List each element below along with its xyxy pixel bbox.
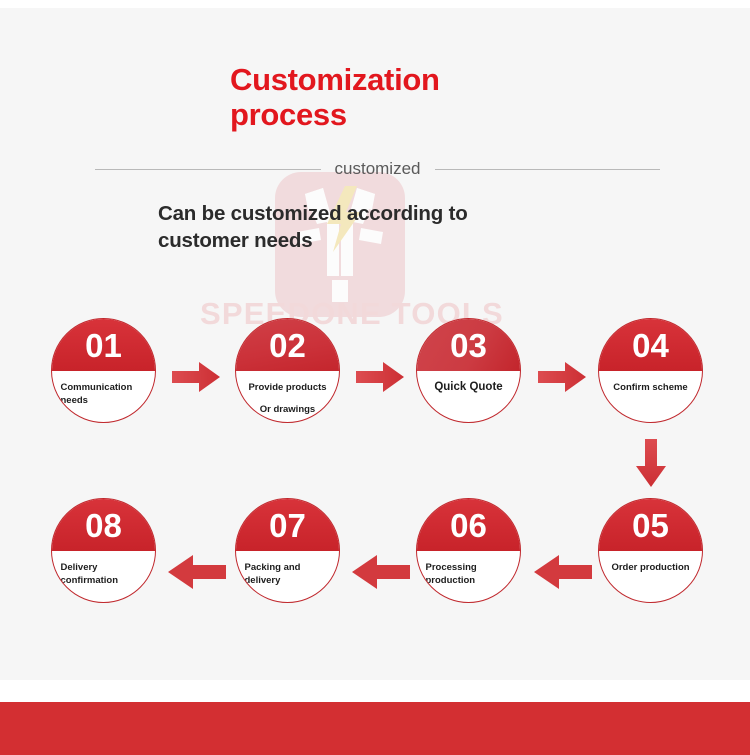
flow-step-02-label-line1: Provide products (242, 381, 334, 394)
flow-step-03-label-area: Quick Quote (417, 371, 520, 423)
flow-step-06-label-area: Processing production (417, 551, 520, 603)
process-flow: 01 Communication needs 02 (0, 0, 750, 755)
arrow-down-icon-1 (636, 439, 666, 487)
flow-step-07-label-area: Packing and delivery (236, 551, 339, 603)
flow-step-06-label-line2: production (420, 574, 518, 587)
flow-step-04-label-line1: Confirm scheme (605, 381, 697, 394)
flow-step-06-label-line1: Processing (420, 561, 518, 574)
flow-step-01-label-line2: needs (55, 394, 153, 407)
bottom-accent-bar (0, 702, 750, 755)
customization-process-infographic: SPEEDONE TOOLS Customization process cus… (0, 0, 750, 755)
flow-step-08-label-line2: confirmation (55, 574, 153, 587)
flow-step-06-number-area: 06 (417, 499, 520, 551)
arrow-left-icon-2 (352, 555, 410, 589)
flow-step-03-number: 03 (450, 329, 487, 362)
flow-step-07[interactable]: 07 Packing and delivery (235, 498, 340, 603)
flow-step-02-label-area: Provide products Or drawings (236, 371, 339, 423)
flow-step-01-number: 01 (85, 329, 122, 362)
flow-step-08-label-line1: Delivery (55, 561, 153, 574)
flow-step-01-label-line1: Communication (55, 381, 153, 394)
arrow-right-icon-2 (356, 362, 404, 392)
flow-step-08-number-area: 08 (52, 499, 155, 551)
flow-step-02-number-area: 02 (236, 319, 339, 371)
arrow-left-icon-3 (534, 555, 592, 589)
flow-step-05-number-area: 05 (599, 499, 702, 551)
flow-step-04[interactable]: 04 Confirm scheme (598, 318, 703, 423)
flow-step-05[interactable]: 05 Order production (598, 498, 703, 603)
flow-step-08-label-area: Delivery confirmation (52, 551, 155, 603)
flow-step-02[interactable]: 02 Provide products Or drawings (235, 318, 340, 423)
flow-step-04-number-area: 04 (599, 319, 702, 371)
arrow-left-icon-1 (168, 555, 226, 589)
flow-step-01-number-area: 01 (52, 319, 155, 371)
flow-step-08[interactable]: 08 Delivery confirmation (51, 498, 156, 603)
arrow-right-icon-1 (172, 362, 220, 392)
flow-step-08-number: 08 (85, 509, 122, 542)
flow-step-01-label-area: Communication needs (52, 371, 155, 423)
flow-step-03[interactable]: 03 Quick Quote (416, 318, 521, 423)
flow-step-05-label-line1: Order production (605, 561, 697, 574)
flow-step-07-number: 07 (269, 509, 306, 542)
flow-step-07-label-line1: Packing and (239, 561, 337, 574)
flow-step-03-label-line1: Quick Quote (423, 381, 515, 394)
flow-step-05-number: 05 (632, 509, 669, 542)
flow-step-07-label-line2: delivery (239, 574, 337, 587)
flow-step-06-number: 06 (450, 509, 487, 542)
flow-step-03-number-area: 03 (417, 319, 520, 371)
flow-step-01[interactable]: 01 Communication needs (51, 318, 156, 423)
arrow-right-icon-3 (538, 362, 586, 392)
flow-step-02-label-line2: Or drawings (242, 403, 334, 416)
flow-step-07-number-area: 07 (236, 499, 339, 551)
flow-step-04-number: 04 (632, 329, 669, 362)
flow-step-04-label-area: Confirm scheme (599, 371, 702, 423)
flow-step-02-number: 02 (269, 329, 306, 362)
flow-step-06[interactable]: 06 Processing production (416, 498, 521, 603)
flow-step-05-label-area: Order production (599, 551, 702, 603)
